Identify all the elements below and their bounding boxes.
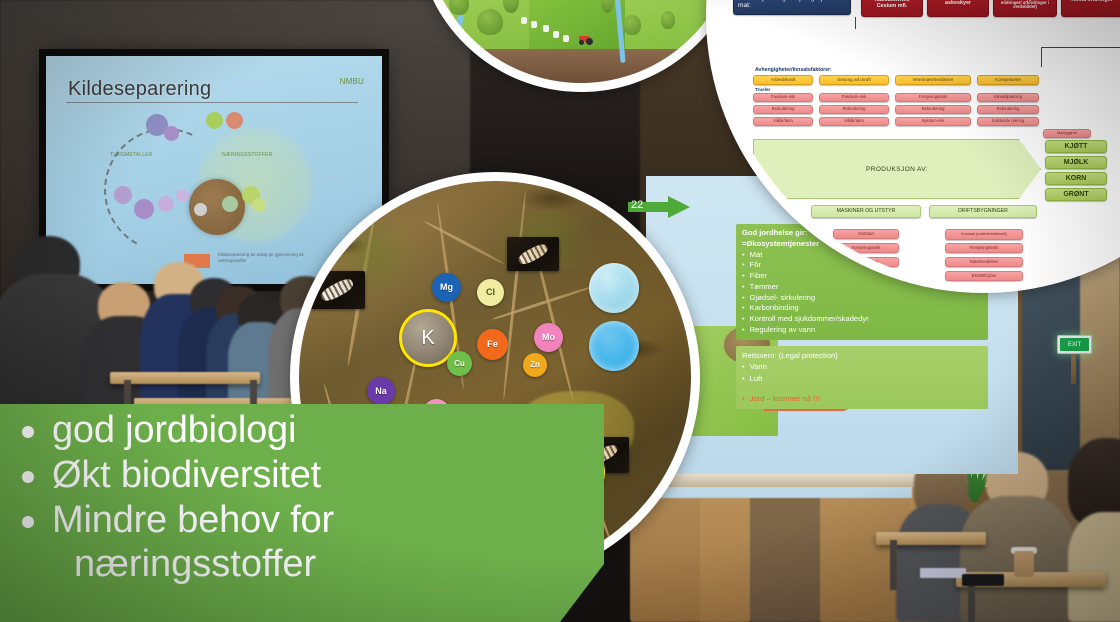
input-factor-box: Sesong arb.kraft (819, 75, 889, 85)
left-slide-rule (66, 102, 358, 103)
cycle-dot (252, 198, 266, 212)
product-box: KORN (1045, 172, 1107, 185)
audience-person (1068, 438, 1120, 622)
nutrient-chip-Fe: Fe (477, 329, 508, 360)
box1-item-label: Regulering av vann (750, 325, 815, 336)
machine-threat: Forsyningssvikt (833, 243, 899, 253)
bullet-dot (22, 516, 34, 528)
nutrient-symbol: K (421, 328, 434, 348)
threat-box: Svikt i globale systemer (som kan følge … (993, 0, 1057, 17)
box2-item-label: Luft (750, 373, 763, 384)
nutrient-chip-Zn: Zn (523, 353, 547, 377)
box2-highlight: •Jord – kommer nå !!! (742, 393, 982, 404)
threat-cell: Klimatilpasning (977, 93, 1039, 102)
desk-phone (962, 574, 1004, 586)
coffee-cup (1014, 551, 1034, 577)
nutrient-symbol: Cl (486, 288, 495, 297)
nutrient-symbol: Cu (454, 360, 465, 368)
product-box: KJØTT (1045, 140, 1107, 153)
farm-asset-box: MASKINER OG UTSTYR (811, 205, 921, 218)
nutrient-symbol: Na (375, 387, 387, 396)
threat-cell: Pandemi-risk (753, 93, 813, 102)
desk-paper (920, 568, 966, 578)
threat-cell: Sykdom-risk (895, 117, 971, 126)
box2-item-label: Vann (750, 361, 767, 372)
machine-threat: Kostnad (833, 229, 899, 239)
green-text-panel: god jordbiologi Økt biodiversitet Mindre… (0, 404, 604, 622)
left-slide-right-label: NÆRINGSSTOFFER (222, 152, 273, 158)
box1-item: •Regulering av vann (742, 325, 982, 336)
cycle-dot (194, 203, 207, 216)
tractor-icon (577, 35, 593, 45)
flow-header-box: Produksjons- og forsyningskjeden for mat… (733, 0, 851, 15)
box2-title: Rettsvern: (Legal protection) (742, 350, 982, 361)
building-threat: Naturhendelser (945, 257, 1023, 267)
cycle-dot (134, 199, 154, 219)
biodiversity-illustration (425, 0, 737, 83)
left-slide-title: Kildeseparering (68, 78, 211, 101)
threat-cell: Vilkår/lønn (819, 117, 889, 126)
nutrient-chip-Cl: Cl (477, 279, 504, 306)
green-panel-bullet: Økt biodiversitet (22, 453, 592, 498)
input-factor-box: Arbeidskraft (753, 75, 813, 85)
building-threat: Forsyningssvikt (945, 243, 1023, 253)
nutrient-symbol: Zn (530, 361, 540, 369)
bullet-dot (22, 471, 34, 483)
nmbu-logo: NMBU (340, 78, 364, 87)
threat-cell: Rekruttering (895, 105, 971, 114)
production-label: PRODUKSJON AV: (866, 166, 928, 173)
screenshot-stage: Kildeseparering NMBU TUNGMETALLER NÆRING… (0, 0, 1120, 622)
farm-asset-box: DRIFTSBYGNINGER (929, 205, 1037, 218)
threat-cell: Rekruttering (753, 105, 813, 114)
bullet-text: Mindre behov for (52, 498, 334, 543)
deps-label: Avhengigheter/Innsatsfaktorer: (755, 67, 832, 73)
green-panel-bullet: Mindre behov for (22, 498, 592, 543)
nutrient-symbol: Mg (440, 283, 453, 292)
cycle-dot (158, 196, 174, 212)
cycle-dot (176, 189, 189, 202)
product-box: MJØLK (1045, 156, 1107, 169)
bullet-dot (22, 426, 34, 438)
threat-box: Klima-endringer (1061, 0, 1120, 17)
cycle-dot (206, 112, 223, 129)
box2-item: •Luft (742, 373, 982, 384)
box1-item-label: Kontroll med sjukdommer/skadedyr (750, 314, 869, 325)
product-box: GRØNT (1045, 188, 1107, 201)
threat-cell: Vilkår/lønn (753, 117, 813, 126)
supply-chain-bubble: Produksjons- og forsyningskjeden for mat… (706, 0, 1120, 293)
threat-cell: Pandemi-risk (819, 93, 889, 102)
biodiversity-bubble (416, 0, 746, 92)
cycle-dot (226, 112, 243, 129)
nutrient-chip-Na: Na (367, 377, 395, 405)
bullet-continuation: næringsstoffer (74, 542, 592, 587)
box2-highlight-label: Jord – kommer nå !!! (750, 393, 820, 404)
desk (110, 372, 260, 384)
left-slide-left-label: TUNGMETALLER (110, 152, 153, 158)
green-panel-bullet: god jordbiologi (22, 408, 592, 453)
cycle-dot (114, 186, 132, 204)
landscape-illustration (425, 0, 737, 83)
threat-box: Forurensning, radioaktivitet, Cesium mfl… (861, 0, 923, 17)
flow-header-label: Produksjons- og forsyningskjeden for mat… (738, 0, 848, 10)
nutrient-chip-Cu: Cu (447, 351, 472, 376)
threats-label: Trusler (755, 87, 770, 92)
nutrient-symbol: Mo (542, 333, 555, 342)
threat-box: Vulkanutbrudd med askeskyer (927, 0, 989, 17)
box1-item: •Gjødsel- sirkulering (742, 293, 982, 304)
exit-sign: EXIT (1057, 335, 1092, 354)
box1-item: •Kontroll med sjukdommer/skadedyr (742, 314, 982, 325)
springtail-tile (309, 271, 365, 309)
supply-chain-diagram: Produksjons- og forsyningskjeden for mat… (715, 0, 1120, 284)
green-panel-list: god jordbiologi Økt biodiversitet Mindre… (22, 408, 592, 587)
nutrient-chip-Mo: Mo (534, 323, 563, 352)
exit-sign-post (1071, 354, 1076, 384)
legal-protection-box: Rettsvern: (Legal protection) •Vann •Luf… (736, 346, 988, 409)
threat-cell: Rekruttering (819, 105, 889, 114)
threat-cell: Rekruttering (977, 105, 1039, 114)
building-threat: Kostnad (materiell/arbkraft) (945, 229, 1023, 240)
box2-item: •Vann (742, 361, 982, 372)
product-threat-box: Matrygghet (1043, 129, 1091, 138)
bullet-text: Økt biodiversitet (52, 453, 321, 498)
threat-cell: Forsyningssvikt (895, 93, 971, 102)
exit-sign-label: EXIT (1060, 338, 1089, 351)
cycle-dot (222, 196, 238, 212)
machine-threat: EKOM/Cyber (833, 257, 899, 267)
nutrient-chip-Mg: Mg (432, 273, 461, 302)
bullet-text: god jordbiologi (52, 408, 296, 453)
mite-tile (507, 237, 559, 271)
box1-item-label: Gjødsel- sirkulering (750, 293, 815, 304)
production-arrow: PRODUKSJON AV: (753, 139, 1041, 199)
input-factor-box: Veterinær/medisiner (895, 75, 971, 85)
box1-item-label: Karbonbinding (750, 303, 799, 314)
water-drop-textured (589, 263, 639, 313)
box1-item: •Karbonbinding (742, 303, 982, 314)
cycle-dot (164, 126, 179, 141)
building-threat: EKOM/Cyber (945, 271, 1023, 281)
nutrient-symbol: Fe (487, 340, 498, 350)
water-drop-flat (589, 321, 639, 371)
input-factor-box: Kompetanse (977, 75, 1039, 85)
threat-cell: Sviktende næring (977, 117, 1039, 126)
